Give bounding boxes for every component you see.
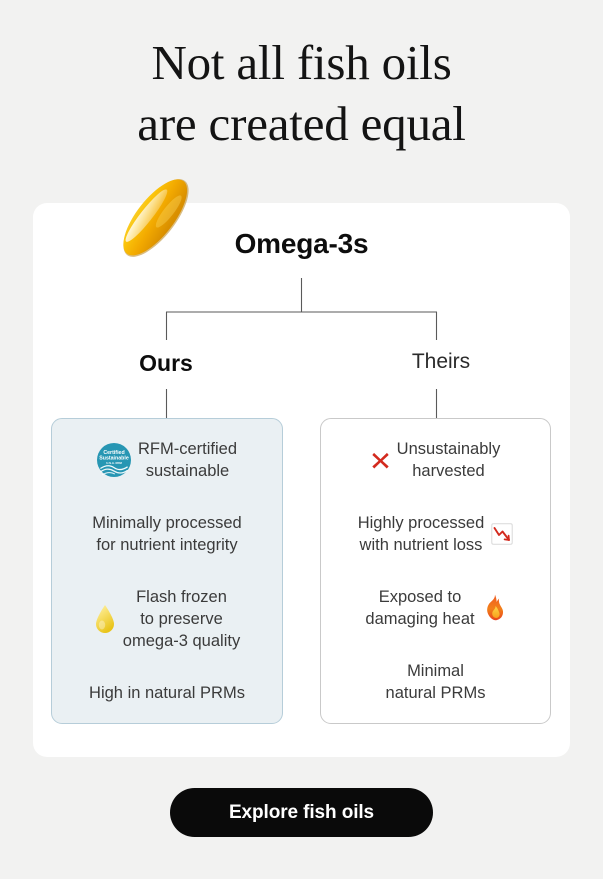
ours-feature-minimally-processed-line-2: for nutrient integrity: [96, 536, 237, 554]
red-x-icon: [371, 451, 390, 470]
branch-label-theirs: Theirs: [361, 350, 521, 374]
ours-feature-flash-frozen-line-1: Flash frozen: [136, 588, 227, 606]
page-title-line-2: are created equal: [0, 93, 603, 154]
theirs-feature-unsustainable-line-1: Unsustainably: [397, 440, 501, 458]
ours-feature-rfm: Certified Sustainable U.S.A. RFM RFM-cer…: [52, 438, 282, 482]
badge-standard-text: U.S.A. RFM: [106, 461, 122, 465]
ours-feature-flash-frozen-line-3: omega-3 quality: [123, 632, 240, 650]
ours-feature-rfm-line-1: RFM-certified: [138, 440, 237, 458]
theirs-feature-highly-processed-line-2: with nutrient loss: [360, 536, 483, 554]
theirs-feature-unsustainable-line-2: harvested: [412, 462, 484, 480]
explore-fish-oils-button[interactable]: Explore fish oils: [170, 788, 433, 837]
ours-feature-flash-frozen-text: Flash frozen to preserve omega-3 quality: [123, 586, 240, 652]
diagram-connectors: [0, 270, 603, 420]
theirs-feature-highly-processed-text: Highly processed with nutrient loss: [358, 512, 485, 556]
theirs-feature-unsustainable-text: Unsustainably harvested: [397, 438, 501, 482]
ours-feature-prms: High in natural PRMs: [52, 682, 282, 704]
theirs-feature-highly-processed-line-1: Highly processed: [358, 514, 485, 532]
chart-decreasing-icon: [491, 523, 513, 545]
ours-feature-minimally-processed-line-1: Minimally processed: [92, 514, 241, 532]
theirs-feature-damaging-heat-line-2: damaging heat: [365, 610, 474, 628]
ours-feature-minimally-processed-text: Minimally processed for nutrient integri…: [92, 512, 241, 556]
ours-feature-prms-text: High in natural PRMs: [89, 682, 245, 704]
droplet-icon: [94, 604, 116, 634]
ours-feature-flash-frozen-line-2: to preserve: [140, 610, 223, 628]
fire-icon: [482, 594, 506, 622]
ours-feature-rfm-line-2: sustainable: [146, 462, 229, 480]
theirs-feature-damaging-heat-line-1: Exposed to: [379, 588, 462, 606]
theirs-feature-damaging-heat-text: Exposed to damaging heat: [365, 586, 474, 630]
theirs-feature-unsustainable: Unsustainably harvested: [321, 438, 550, 482]
page-title: Not all fish oils are created equal: [0, 32, 603, 154]
branch-label-ours: Ours: [86, 350, 246, 377]
ours-feature-rfm-text: RFM-certified sustainable: [138, 438, 237, 482]
theirs-feature-minimal-prms: Minimal natural PRMs: [321, 660, 550, 704]
theirs-feature-damaging-heat: Exposed to damaging heat: [321, 586, 550, 630]
theirs-comparison-card: Unsustainably harvested Highly processed…: [320, 418, 551, 724]
theirs-feature-highly-processed: Highly processed with nutrient loss: [321, 512, 550, 556]
ours-feature-flash-frozen: Flash frozen to preserve omega-3 quality: [52, 586, 282, 652]
theirs-feature-minimal-prms-line-1: Minimal: [407, 662, 464, 680]
rfm-certified-sustainable-badge-icon: Certified Sustainable U.S.A. RFM: [97, 443, 131, 477]
diagram-root-label: Omega-3s: [0, 228, 603, 260]
page-title-line-1: Not all fish oils: [0, 32, 603, 93]
theirs-feature-minimal-prms-line-2: natural PRMs: [386, 684, 486, 702]
theirs-feature-minimal-prms-text: Minimal natural PRMs: [386, 660, 486, 704]
ours-comparison-card: Certified Sustainable U.S.A. RFM RFM-cer…: [51, 418, 283, 724]
ours-feature-minimally-processed: Minimally processed for nutrient integri…: [52, 512, 282, 556]
